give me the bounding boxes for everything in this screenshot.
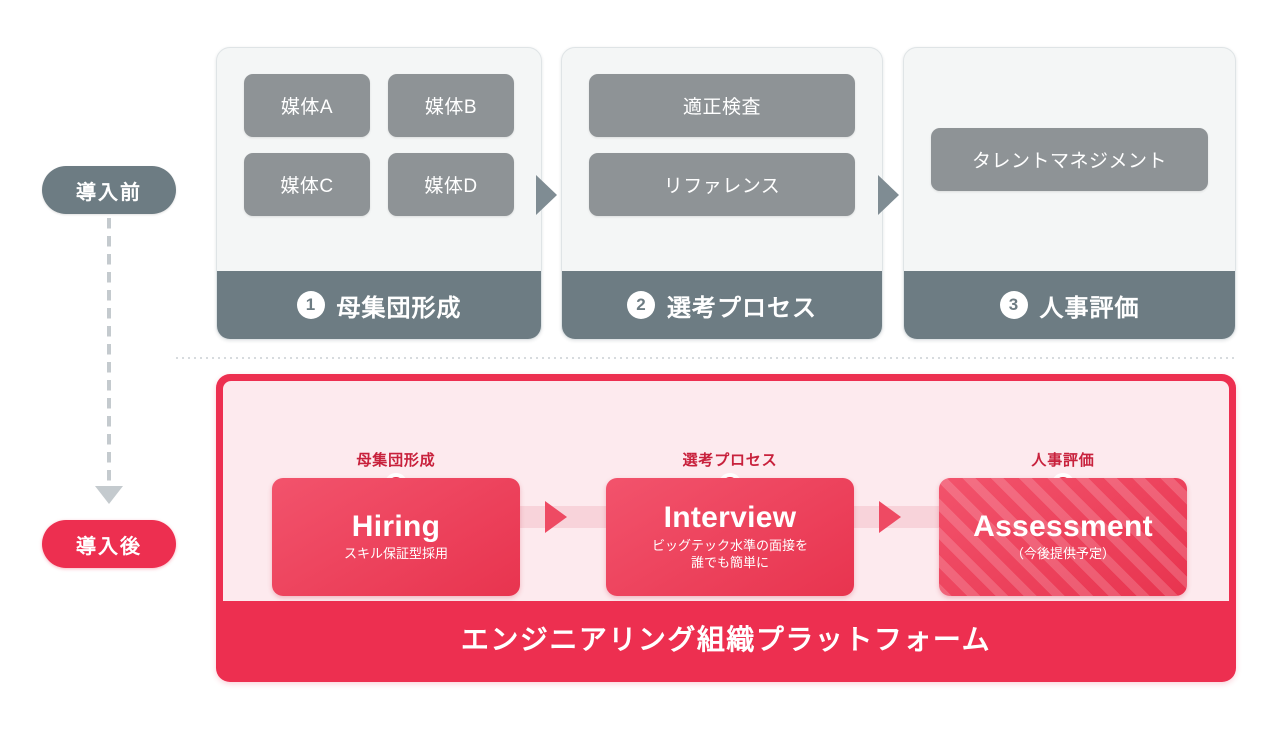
- platform-banner: エンジニアリング組織プラットフォーム: [223, 601, 1229, 675]
- platform-panel: 母集団形成 Hiring スキル保証型採用 選考プロセス Interview ビ…: [216, 374, 1236, 682]
- legacy-card-body: 媒体A 媒体B 媒体C 媒体D: [217, 48, 541, 271]
- platform-step-subtitle: （今後提供予定）: [1011, 545, 1115, 563]
- platform-step-card: Hiring スキル保証型採用: [272, 478, 520, 596]
- legacy-card-body: 適正検査 リファレンス: [562, 48, 882, 271]
- stage-badge-before: 導入前: [42, 166, 176, 214]
- chip-talent-management: タレントマネジメント: [931, 128, 1208, 191]
- platform-step-label: 人事評価: [939, 449, 1187, 470]
- platform-step-title: Hiring: [352, 511, 440, 543]
- platform-step-title: Assessment: [973, 511, 1153, 543]
- platform-step-card-coming-soon: Assessment （今後提供予定）: [939, 478, 1187, 596]
- step-number-badge: 2: [627, 291, 655, 319]
- platform-step-title: Interview: [664, 502, 797, 534]
- legacy-card-screening: 適正検査 リファレンス 2 選考プロセス: [561, 47, 883, 340]
- platform-step-interview: 選考プロセス Interview ビッグテック水準の面接を 誰でも簡単に: [606, 449, 854, 596]
- platform-step-subtitle: ビッグテック水準の面接を 誰でも簡単に: [652, 537, 808, 572]
- step-number-badge: 3: [1000, 291, 1028, 319]
- dashed-connector-arrowhead-icon: [95, 486, 123, 504]
- platform-flow-area: 母集団形成 Hiring スキル保証型採用 選考プロセス Interview ビ…: [223, 381, 1229, 601]
- diagram-canvas: 導入前 導入後 媒体A 媒体B 媒体C 媒体D 1 母集団形成 適正検査 リファ…: [0, 0, 1280, 730]
- platform-step-label: 母集団形成: [272, 449, 520, 470]
- legacy-card-footer: 1 母集団形成: [217, 271, 541, 339]
- platform-step-card: Interview ビッグテック水準の面接を 誰でも簡単に: [606, 478, 854, 596]
- chip-media-c: 媒体C: [244, 153, 370, 216]
- flow-arrow-icon-legacy-2: [878, 175, 899, 215]
- dashed-connector-line: [107, 218, 111, 490]
- section-divider: [176, 357, 1236, 359]
- platform-step-assessment: 人事評価 Assessment （今後提供予定）: [939, 449, 1187, 596]
- legacy-card-evaluation: タレントマネジメント 3 人事評価: [903, 47, 1236, 340]
- chip-media-a: 媒体A: [244, 74, 370, 137]
- stage-badge-before-label: 導入前: [76, 176, 142, 205]
- step-footer-label: 人事評価: [1040, 288, 1140, 323]
- flow-arrow-icon-platform-1: [545, 501, 567, 533]
- step-footer-label: 選考プロセス: [667, 288, 817, 323]
- platform-banner-label: エンジニアリング組織プラットフォーム: [461, 618, 991, 658]
- legacy-card-footer: 2 選考プロセス: [562, 271, 882, 339]
- platform-step-hiring: 母集団形成 Hiring スキル保証型採用: [272, 449, 520, 596]
- flow-arrow-icon-platform-2: [879, 501, 901, 533]
- step-number-badge: 1: [297, 291, 325, 319]
- platform-step-label: 選考プロセス: [606, 449, 854, 470]
- legacy-card-footer: 3 人事評価: [904, 271, 1235, 339]
- platform-step-subtitle: スキル保証型採用: [344, 545, 448, 563]
- stage-badge-after: 導入後: [42, 520, 176, 568]
- legacy-card-body: タレントマネジメント: [904, 48, 1235, 271]
- legacy-card-sourcing: 媒体A 媒体B 媒体C 媒体D 1 母集団形成: [216, 47, 542, 340]
- chip-media-b: 媒体B: [388, 74, 514, 137]
- chip-aptitude-test: 適正検査: [589, 74, 855, 137]
- chip-media-d: 媒体D: [388, 153, 514, 216]
- flow-arrow-icon-legacy-1: [536, 175, 557, 215]
- stage-badge-after-label: 導入後: [76, 530, 142, 559]
- chip-reference-check: リファレンス: [589, 153, 855, 216]
- step-footer-label: 母集団形成: [337, 288, 462, 323]
